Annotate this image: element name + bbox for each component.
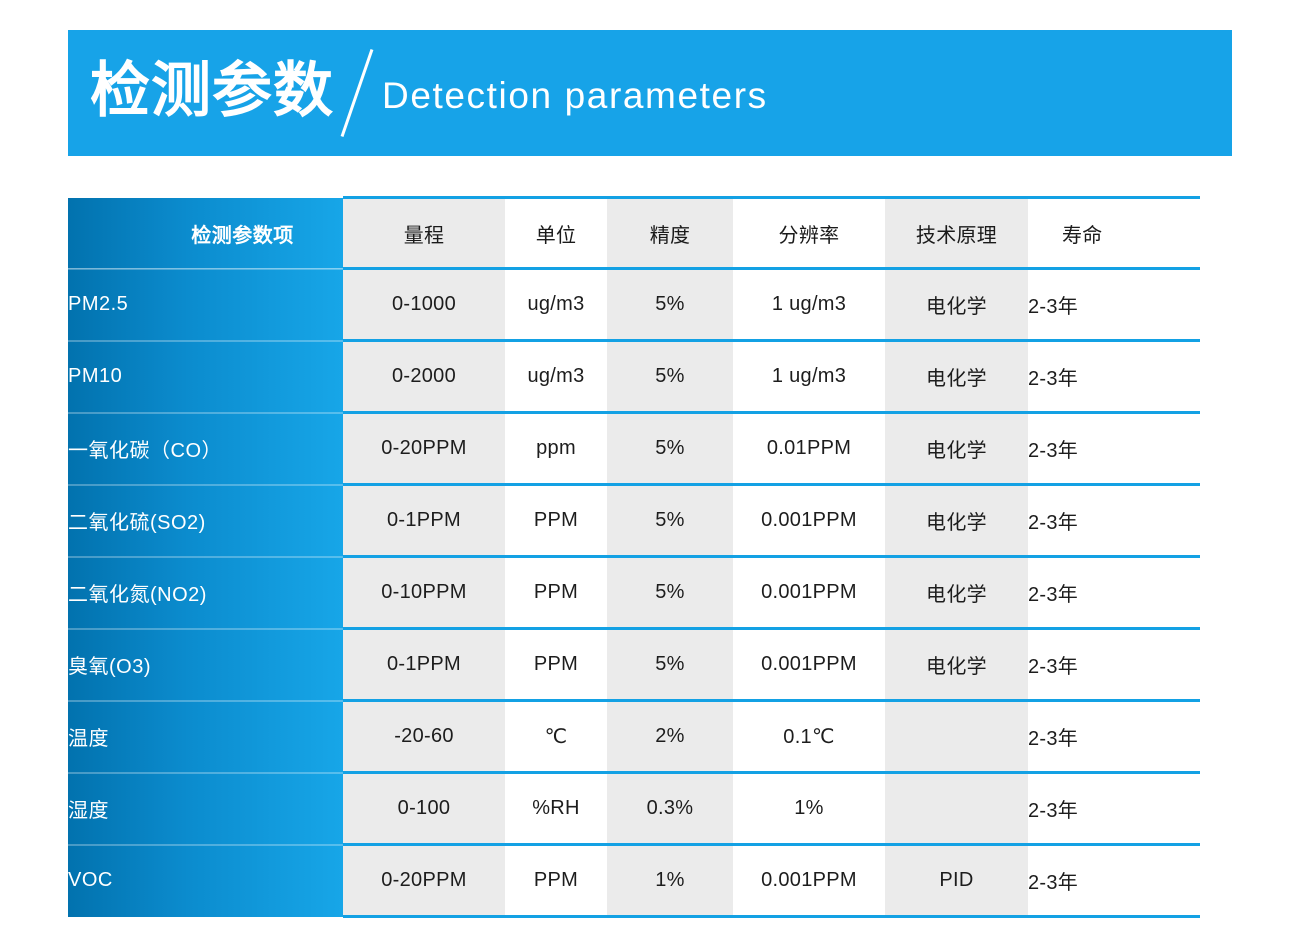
cell-accuracy: 5% [607,485,733,557]
cell-life: 2-3年 [1028,701,1200,773]
detection-parameters-page: 检测参数 Detection parameters 检测参数项 量程 单位 精度… [0,0,1300,928]
cell-resolution: 0.01PPM [733,413,885,485]
slash-divider-icon [334,47,380,139]
cell-accuracy: 1% [607,845,733,917]
cell-life: 2-3年 [1028,629,1200,701]
cell-life: 2-3年 [1028,485,1200,557]
cell-parameter-name: 温度 [68,701,343,773]
cell-resolution: 1 ug/m3 [733,269,885,341]
table-row: 一氧化碳（CO） 0-20PPM ppm 5% 0.01PPM 电化学 2-3年 [68,413,1200,485]
cell-parameter-name: PM2.5 [68,269,343,341]
cell-parameter-name: VOC [68,845,343,917]
cell-resolution: 1 ug/m3 [733,341,885,413]
header-cell-accuracy: 精度 [607,198,733,269]
cell-principle: 电化学 [885,341,1028,413]
cell-range: 0-1PPM [343,629,505,701]
cell-parameter-name: 臭氧(O3) [68,629,343,701]
cell-accuracy: 5% [607,269,733,341]
table-body: PM2.5 0-1000 ug/m3 5% 1 ug/m3 电化学 2-3年 P… [68,269,1200,917]
cell-unit: ug/m3 [505,341,607,413]
table-row: VOC 0-20PPM PPM 1% 0.001PPM PID 2-3年 [68,845,1200,917]
cell-principle [885,773,1028,845]
cell-range: 0-20PPM [343,413,505,485]
detection-parameters-table: 检测参数项 量程 单位 精度 分辨率 技术原理 寿命 PM2.5 0-1000 … [68,196,1200,918]
cell-accuracy: 5% [607,557,733,629]
page-banner: 检测参数 Detection parameters [68,30,1232,156]
cell-range: -20-60 [343,701,505,773]
cell-unit: PPM [505,557,607,629]
table-row: PM10 0-2000 ug/m3 5% 1 ug/m3 电化学 2-3年 [68,341,1200,413]
cell-unit: PPM [505,845,607,917]
cell-range: 0-10PPM [343,557,505,629]
cell-principle: 电化学 [885,485,1028,557]
cell-range: 0-1PPM [343,485,505,557]
cell-principle: PID [885,845,1028,917]
table-row: 二氧化硫(SO2) 0-1PPM PPM 5% 0.001PPM 电化学 2-3… [68,485,1200,557]
cell-resolution: 0.001PPM [733,557,885,629]
table-row: 温度 -20-60 ℃ 2% 0.1℃ 2-3年 [68,701,1200,773]
cell-parameter-name: 二氧化硫(SO2) [68,485,343,557]
cell-range: 0-20PPM [343,845,505,917]
header-cell-life: 寿命 [1028,198,1200,269]
cell-accuracy: 0.3% [607,773,733,845]
header-cell-unit: 单位 [505,198,607,269]
cell-life: 2-3年 [1028,413,1200,485]
table-header-row: 检测参数项 量程 单位 精度 分辨率 技术原理 寿命 [68,198,1200,269]
table-row: 二氧化氮(NO2) 0-10PPM PPM 5% 0.001PPM 电化学 2-… [68,557,1200,629]
banner-title-english: Detection parameters [382,77,768,114]
cell-unit: ug/m3 [505,269,607,341]
cell-resolution: 1% [733,773,885,845]
cell-unit: %RH [505,773,607,845]
cell-life: 2-3年 [1028,341,1200,413]
parameters-table-wrapper: 检测参数项 量程 单位 精度 分辨率 技术原理 寿命 PM2.5 0-1000 … [68,196,1200,918]
cell-range: 0-100 [343,773,505,845]
header-cell-principle: 技术原理 [885,198,1028,269]
cell-accuracy: 5% [607,413,733,485]
cell-principle [885,701,1028,773]
cell-parameter-name: 二氧化氮(NO2) [68,557,343,629]
cell-unit: ℃ [505,701,607,773]
cell-range: 0-1000 [343,269,505,341]
cell-parameter-name: 一氧化碳（CO） [68,413,343,485]
cell-parameter-name: 湿度 [68,773,343,845]
header-cell-range: 量程 [343,198,505,269]
cell-principle: 电化学 [885,269,1028,341]
cell-accuracy: 5% [607,629,733,701]
cell-resolution: 0.001PPM [733,485,885,557]
table-row: 湿度 0-100 %RH 0.3% 1% 2-3年 [68,773,1200,845]
cell-unit: PPM [505,485,607,557]
cell-accuracy: 2% [607,701,733,773]
cell-unit: PPM [505,629,607,701]
header-cell-parameter: 检测参数项 [68,198,343,269]
cell-resolution: 0.001PPM [733,845,885,917]
cell-life: 2-3年 [1028,773,1200,845]
cell-parameter-name: PM10 [68,341,343,413]
cell-accuracy: 5% [607,341,733,413]
cell-unit: ppm [505,413,607,485]
cell-principle: 电化学 [885,557,1028,629]
table-head: 检测参数项 量程 单位 精度 分辨率 技术原理 寿命 [68,198,1200,269]
table-row: 臭氧(O3) 0-1PPM PPM 5% 0.001PPM 电化学 2-3年 [68,629,1200,701]
cell-principle: 电化学 [885,413,1028,485]
cell-range: 0-2000 [343,341,505,413]
cell-resolution: 0.001PPM [733,629,885,701]
header-cell-resolution: 分辨率 [733,198,885,269]
table-row: PM2.5 0-1000 ug/m3 5% 1 ug/m3 电化学 2-3年 [68,269,1200,341]
cell-life: 2-3年 [1028,845,1200,917]
banner-title-group: 检测参数 Detection parameters [90,30,768,156]
cell-resolution: 0.1℃ [733,701,885,773]
banner-title-chinese: 检测参数 [90,61,334,121]
cell-life: 2-3年 [1028,557,1200,629]
cell-principle: 电化学 [885,629,1028,701]
cell-life: 2-3年 [1028,269,1200,341]
